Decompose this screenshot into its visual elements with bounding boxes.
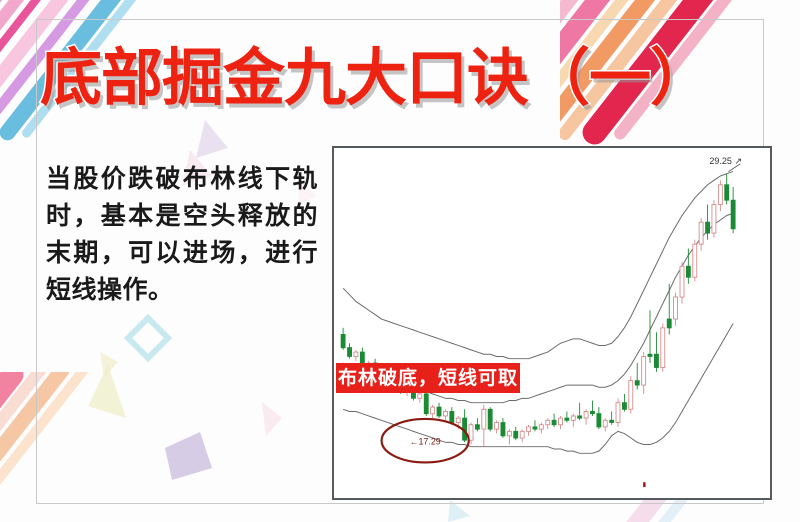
candlestick-chart: ←17.29 [334, 148, 770, 498]
arrow-icon: ↗ [734, 156, 742, 166]
candle [559, 416, 563, 429]
candle [693, 240, 697, 282]
body-paragraph: 当股价跌破布林线下轨时，基本是空头释放的末期，可以进场，进行短线操作。 [46, 160, 318, 308]
candle [590, 401, 594, 416]
candle [725, 174, 729, 205]
candle [642, 352, 646, 394]
candle [552, 414, 556, 427]
candle [718, 180, 722, 211]
candle [443, 409, 447, 420]
candle [712, 200, 716, 237]
candle [501, 418, 505, 438]
candle [533, 420, 537, 431]
candle [616, 398, 620, 427]
candle [527, 425, 531, 436]
candle [424, 390, 428, 416]
candle [597, 407, 601, 429]
slide-canvas: 底部掘金九大口诀（一） 当股价跌破布林线下轨时，基本是空头释放的末期，可以进场，… [0, 0, 800, 522]
stock-chart-panel[interactable]: ←17.29 29.25 ↗ [332, 146, 772, 500]
candle [706, 205, 710, 240]
candle [571, 414, 575, 427]
candle [654, 332, 658, 372]
candle [546, 418, 550, 429]
candle [635, 363, 639, 389]
candle [622, 394, 626, 412]
candle [539, 423, 543, 434]
high-price-value: 29.25 [709, 156, 732, 166]
candle [674, 293, 678, 326]
candle [488, 407, 492, 431]
candle [431, 405, 435, 418]
candle [463, 409, 467, 442]
candle [495, 420, 499, 433]
candle [584, 409, 588, 424]
page-title: 底部掘金九大口诀（一） [40, 36, 760, 120]
candle [565, 411, 569, 422]
candle [629, 376, 633, 413]
high-price-annotation: 29.25 ↗ [709, 156, 742, 167]
candle [354, 350, 358, 361]
candle [348, 343, 352, 358]
banner-label: 布林破底，短线可取 [336, 363, 520, 393]
candle [667, 284, 671, 335]
candle [482, 405, 486, 447]
boll-line-boll-upper [343, 172, 733, 359]
candle [514, 427, 518, 440]
candle [437, 403, 441, 418]
candle [680, 262, 684, 304]
candle [603, 418, 607, 431]
bottom-marker [643, 482, 645, 487]
candle [699, 218, 703, 251]
low-break-label: ←17.29 [410, 437, 441, 447]
candle [520, 429, 524, 442]
candle [661, 323, 665, 371]
candle [731, 187, 735, 233]
candle [418, 392, 422, 403]
candle [507, 429, 511, 444]
candle [341, 328, 345, 350]
candle [648, 310, 652, 363]
candle [475, 418, 479, 431]
candle [578, 403, 582, 421]
candle [610, 411, 614, 424]
